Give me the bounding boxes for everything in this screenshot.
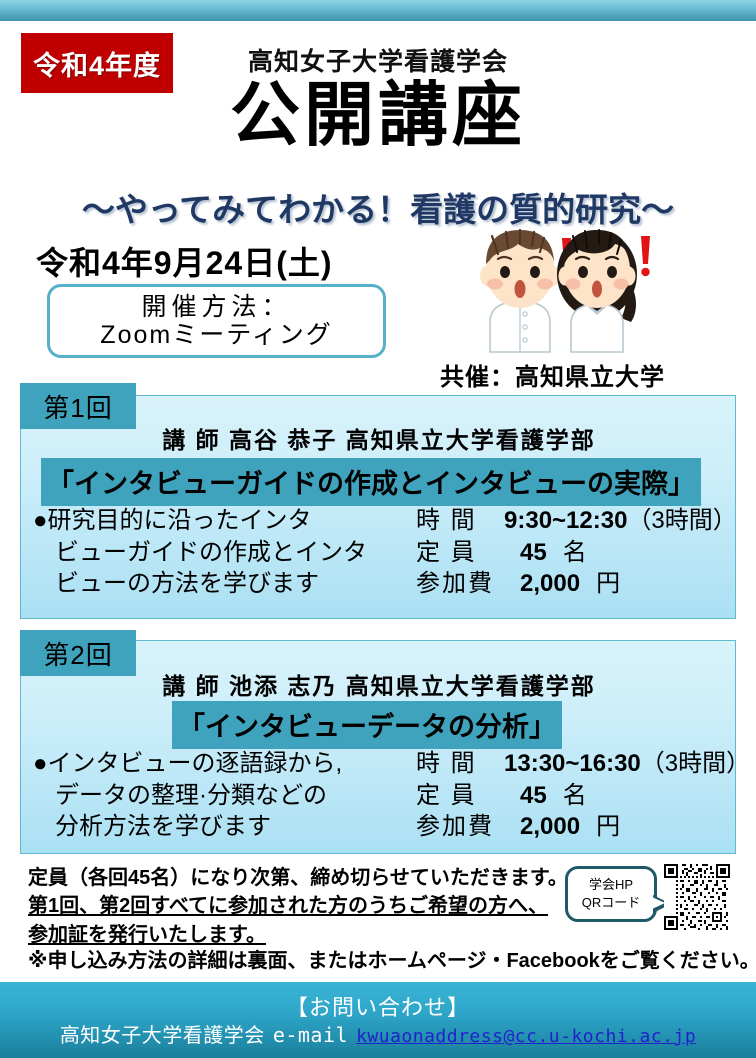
session-1-time-value: 9:30~12:30（3時間） <box>504 506 737 537</box>
contact-heading: 【お問い合わせ】 <box>286 994 470 1022</box>
session-2-desc-line: 分析方法を学びます <box>33 812 416 843</box>
session-1-title: 「インタビューガイドの作成とインタビューの実際」 <box>41 458 701 506</box>
session-1-capacity-label: 定 員 <box>416 538 504 569</box>
contact-org: 高知女子大学看護学会 <box>60 1022 265 1048</box>
session-2-time-value: 13:30~16:30（3時間） <box>504 749 750 780</box>
session-1-details: ●研究目的に沿ったインタ 時 間 9:30~12:30（3時間） ビューガイドの… <box>33 506 733 600</box>
note-line-2: 第1回、第2回すべてに参加された方のうちご希望の方へ、 <box>28 892 548 920</box>
contact-bar: 【お問い合わせ】 高知女子大学看護学会 e-mail kwuaonaddress… <box>0 982 756 1058</box>
session-2-capacity-value: 45名 <box>504 781 750 812</box>
session-2-fee-value: 2,000円 <box>504 812 750 843</box>
session-1-fee-label: 参加費 <box>416 569 504 600</box>
session-1-tab: 第1回 <box>20 383 136 429</box>
session-1-fee-value: 2,000円 <box>504 569 737 600</box>
event-date: 令和4年9月24日(土) <box>36 238 333 284</box>
male-character <box>480 230 560 352</box>
session-1-desc-line: ビューの方法を学びます <box>33 569 416 600</box>
session-1-desc-line: ビューガイドの作成とインタ <box>33 538 416 569</box>
session-2-desc-line: データの整理·分類などの <box>33 781 416 812</box>
qr-code-image[interactable] <box>664 864 730 930</box>
session-1-capacity-value: 45名 <box>504 538 737 569</box>
application-note: ※申し込み方法の詳細は裏面、またはホームページ・Facebookをご覧ください。 <box>28 944 756 973</box>
session-2-desc-line: ●インタビューの逐語録から, <box>33 749 416 780</box>
qr-callout-line-2: QRコード <box>582 894 641 912</box>
exclamation-mark-right <box>641 236 650 276</box>
female-character <box>557 230 637 352</box>
cohost-label: 共催：高知県立大学 <box>440 357 665 392</box>
people-illustration <box>440 222 655 354</box>
page-title: 公開講座 <box>0 80 756 150</box>
session-1-time-label: 時 間 <box>416 506 504 537</box>
contact-email-link[interactable]: kwuaonaddress@cc.u-kochi.ac.jp <box>356 1025 696 1048</box>
session-2-fee-label: 参加費 <box>416 812 504 843</box>
contact-email-label: e-mail <box>273 1022 348 1048</box>
session-1-desc-line: ●研究目的に沿ったインタ <box>33 506 416 537</box>
session-2-capacity-label: 定 員 <box>416 781 504 812</box>
qr-callout-bubble: 学会HP QRコード <box>565 866 657 922</box>
note-line-1: 定員（各回45名）になり次第、締め切らせていただきます。 <box>28 864 548 892</box>
contact-line: 高知女子大学看護学会 e-mail kwuaonaddress@cc.u-koc… <box>60 1022 696 1048</box>
delivery-method-label: 開催方法： <box>141 293 291 321</box>
session-2-time-label: 時 間 <box>416 749 504 780</box>
delivery-method-box: 開催方法： Zoomミーティング <box>47 284 386 358</box>
notes-block: 定員（各回45名）になり次第、締め切らせていただきます。 第1回、第2回すべてに… <box>28 864 548 949</box>
society-name: 高知女子大学看護学会 <box>0 42 756 78</box>
qr-callout-line-1: 学会HP <box>589 876 633 894</box>
session-2-details: ●インタビューの逐語録から, 時 間 13:30~16:30（3時間） データの… <box>33 749 733 843</box>
delivery-method-value: Zoomミーティング <box>100 321 332 349</box>
session-2-tab: 第2回 <box>20 630 136 676</box>
session-2-title: 「インタビューデータの分析」 <box>172 701 562 749</box>
top-decorative-bar <box>0 0 756 21</box>
poster-root: 令和4年度 高知女子大学看護学会 公開講座 〜やってみてわかる！看護の質的研究〜… <box>0 0 756 1058</box>
